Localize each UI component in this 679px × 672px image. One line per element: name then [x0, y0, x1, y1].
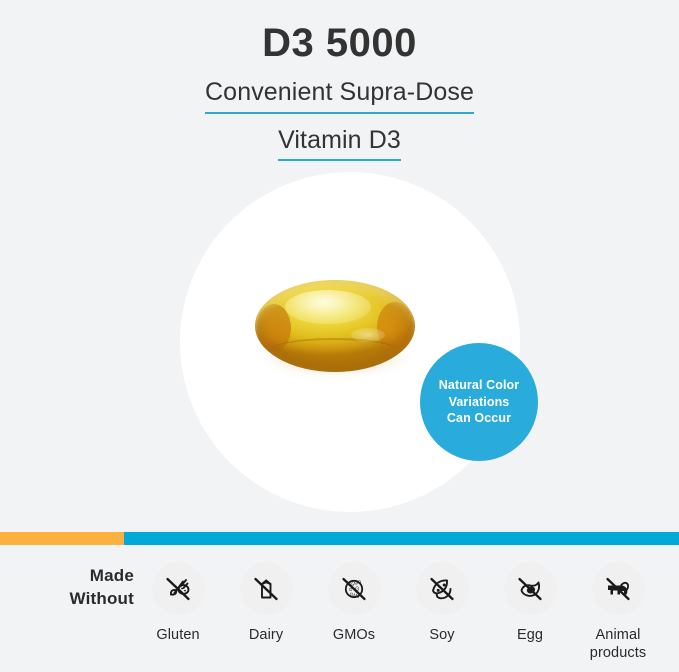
made-without-icon-row: Gluten Dairy GMO G G — [134, 555, 679, 662]
made-without-label-gmos: GMOs — [333, 626, 375, 644]
made-without-label: Made Without — [34, 565, 134, 611]
hero-section: Natural Color Variations Can Occur — [0, 160, 679, 525]
made-without-label-egg: Egg — [517, 626, 543, 644]
softgel-highlight — [285, 290, 371, 324]
made-without-item-egg: Egg — [486, 555, 574, 662]
made-without-item-dairy: Dairy — [222, 555, 310, 662]
subtitle-line-2: Vitamin D3 — [278, 124, 401, 162]
made-without-item-animal-products: Animal products — [574, 555, 662, 662]
subtitle-line-2-wrap: Vitamin D3 — [0, 114, 679, 162]
made-without-label-animal-products: Animal products — [590, 626, 646, 662]
no-dairy-icon — [240, 562, 293, 615]
softgel-capsule-image — [255, 280, 415, 378]
divider-segment-orange — [0, 532, 124, 545]
made-without-item-soy: Soy — [398, 555, 486, 662]
softgel-seam — [271, 338, 397, 362]
no-gmo-icon: GMO G G GMo — [328, 562, 381, 615]
made-without-item-gmos: GMO G G GMo GMOs — [310, 555, 398, 662]
natural-color-badge-text: Natural Color Variations Can Occur — [431, 377, 527, 427]
divider-segment-cyan — [124, 532, 679, 545]
no-gluten-icon — [152, 562, 205, 615]
no-egg-icon — [504, 562, 557, 615]
made-without-label-dairy: Dairy — [249, 626, 283, 644]
made-without-section: Made Without Gluten — [0, 555, 679, 672]
made-without-item-gluten: Gluten — [134, 555, 222, 662]
natural-color-badge: Natural Color Variations Can Occur — [420, 343, 538, 461]
subtitle-line-1: Convenient Supra-Dose — [205, 76, 474, 114]
subtitle-line-1-wrap: Convenient Supra-Dose — [0, 66, 679, 114]
made-without-label-soy: Soy — [429, 626, 454, 644]
color-divider-bar — [0, 532, 679, 545]
no-soy-icon — [416, 562, 469, 615]
header: D3 5000 Convenient Supra-Dose Vitamin D3 — [0, 0, 679, 161]
made-without-label-gluten: Gluten — [156, 626, 199, 644]
softgel-highlight-secondary — [351, 328, 385, 342]
page-title: D3 5000 — [0, 20, 679, 66]
no-animal-products-icon — [592, 562, 645, 615]
